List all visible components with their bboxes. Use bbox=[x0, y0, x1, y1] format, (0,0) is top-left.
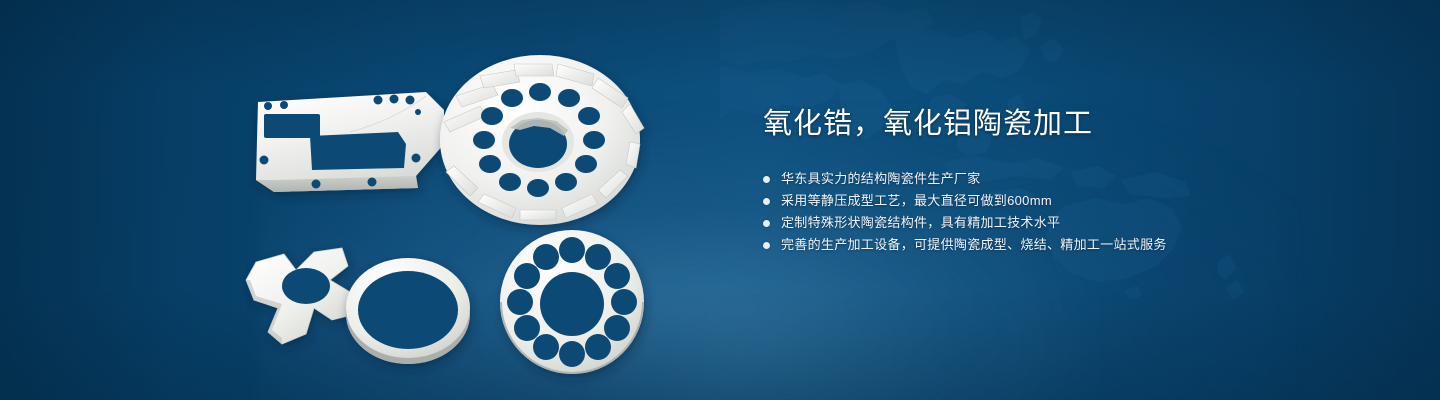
bullet-dot-icon bbox=[763, 198, 770, 205]
feature-text-4: 完善的生产加工设备，可提供陶瓷成型、烧结、精加工一站式服务 bbox=[781, 234, 1167, 256]
bullet-dot-icon bbox=[763, 220, 770, 227]
feature-text-1: 华东具实力的结构陶瓷件生产厂家 bbox=[781, 168, 981, 190]
feature-item-2: 采用等静压成型工艺，最大直径可做到600mm bbox=[763, 190, 1383, 212]
ceramic-star-part bbox=[246, 248, 356, 344]
ceramic-base-plate bbox=[256, 92, 444, 192]
hero-banner: 氧化锆，氧化铝陶瓷加工 华东具实力的结构陶瓷件生产厂家 采用等静压成型工艺，最大… bbox=[0, 0, 1440, 400]
feature-text-3: 定制特殊形状陶瓷结构件，具有精加工技术水平 bbox=[781, 212, 1060, 234]
feature-item-4: 完善的生产加工设备，可提供陶瓷成型、烧结、精加工一站式服务 bbox=[763, 234, 1383, 256]
banner-copy: 氧化锆，氧化铝陶瓷加工 华东具实力的结构陶瓷件生产厂家 采用等静压成型工艺，最大… bbox=[763, 104, 1383, 256]
feature-item-1: 华东具实力的结构陶瓷件生产厂家 bbox=[763, 168, 1383, 190]
feature-text-2: 采用等静压成型工艺，最大直径可做到600mm bbox=[781, 190, 1052, 212]
banner-headline: 氧化锆，氧化铝陶瓷加工 bbox=[763, 104, 1383, 144]
product-image-group bbox=[230, 40, 700, 370]
bullet-dot-icon bbox=[763, 176, 770, 183]
bullet-dot-icon bbox=[763, 242, 770, 249]
feature-list: 华东具实力的结构陶瓷件生产厂家 采用等静压成型工艺，最大直径可做到600mm 定… bbox=[763, 168, 1383, 256]
ceramic-impeller-disc bbox=[440, 55, 644, 225]
ceramic-perforated-disc bbox=[500, 230, 644, 374]
ceramic-ring bbox=[346, 258, 470, 364]
feature-item-3: 定制特殊形状陶瓷结构件，具有精加工技术水平 bbox=[763, 212, 1383, 234]
